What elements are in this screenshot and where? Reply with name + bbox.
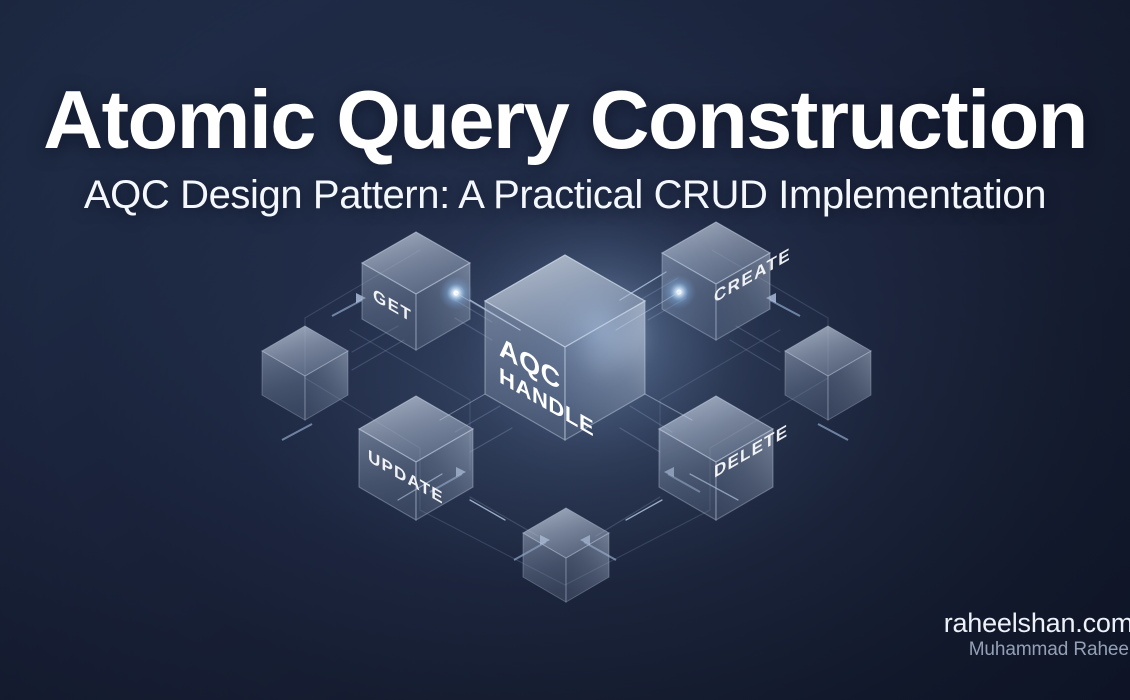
author-name: Muhammad Raheel bbox=[944, 640, 1130, 660]
attribution-block: raheelshan.com Muhammad Raheel bbox=[944, 609, 1130, 660]
site-url[interactable]: raheelshan.com bbox=[944, 609, 1130, 638]
slide-canvas: GET CREATE UPDATE DELETE bbox=[0, 0, 1130, 700]
isometric-diagram: GET CREATE UPDATE DELETE bbox=[0, 0, 1130, 700]
center-cube-aqc-handle[interactable]: AQC HANDLE bbox=[450, 200, 750, 460]
